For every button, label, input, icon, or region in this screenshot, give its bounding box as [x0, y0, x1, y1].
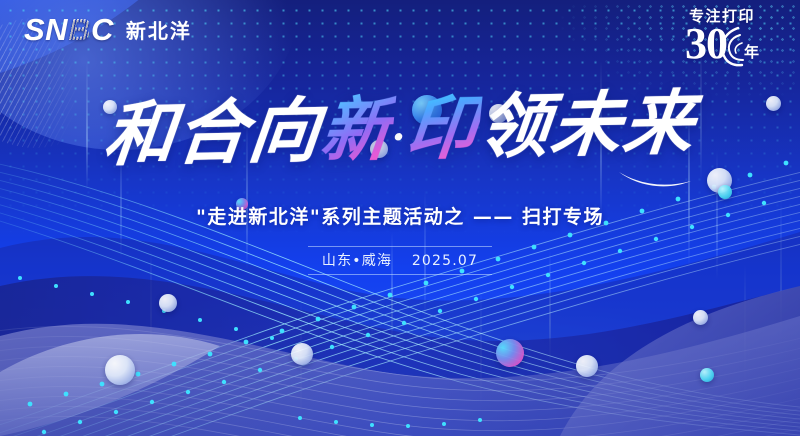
event-subtitle: "走进新北洋"系列主题活动之 —— 扫打专场 — [0, 202, 800, 229]
dateline-spacer — [399, 253, 405, 269]
event-date: 2025.07 — [412, 253, 478, 269]
event-location: 山东•威海 — [322, 253, 392, 269]
logo-mark-part3: C — [91, 12, 114, 47]
brand-chinese-name: 新北洋 — [126, 15, 192, 44]
logo-mark-part2: B — [68, 12, 91, 47]
logo-mark-part1: SN — [24, 12, 68, 47]
title-seg-3-gradient: 印 — [403, 90, 483, 168]
decorative-sphere — [496, 339, 524, 367]
title-seg-4: 领未来 — [475, 86, 699, 168]
dateline-inner: 山东•威海 2025.07 — [308, 246, 492, 275]
decorative-sphere — [693, 310, 708, 325]
decorative-sphere — [291, 343, 313, 365]
decorative-sphere — [718, 185, 732, 199]
swirl-icon — [716, 23, 746, 65]
decorative-sphere — [700, 368, 714, 382]
brand-logo: SNBC 新北洋 — [24, 14, 192, 45]
title-seg-2-gradient: 新 — [317, 92, 397, 170]
event-dateline: 山东•威海 2025.07 — [0, 246, 800, 275]
main-title-block: 和合向新·印领未来 — [0, 96, 800, 166]
decorative-sphere — [159, 294, 177, 312]
event-banner: SNBC 新北洋 专注打印 30 年 和合向新·印领未来 "走进新北洋"系列 — [0, 0, 800, 436]
badge-unit: 年 — [744, 41, 759, 62]
anniversary-badge: 专注打印 30 年 — [670, 8, 774, 65]
title-seg-1: 和合向 — [101, 94, 325, 176]
snbc-wordmark-icon: SNBC — [24, 14, 114, 45]
decorative-sphere — [105, 355, 135, 385]
calligraphy-swoosh-icon — [618, 170, 692, 190]
main-title: 和合向新·印领未来 — [101, 90, 699, 172]
decorative-sphere — [576, 355, 598, 377]
